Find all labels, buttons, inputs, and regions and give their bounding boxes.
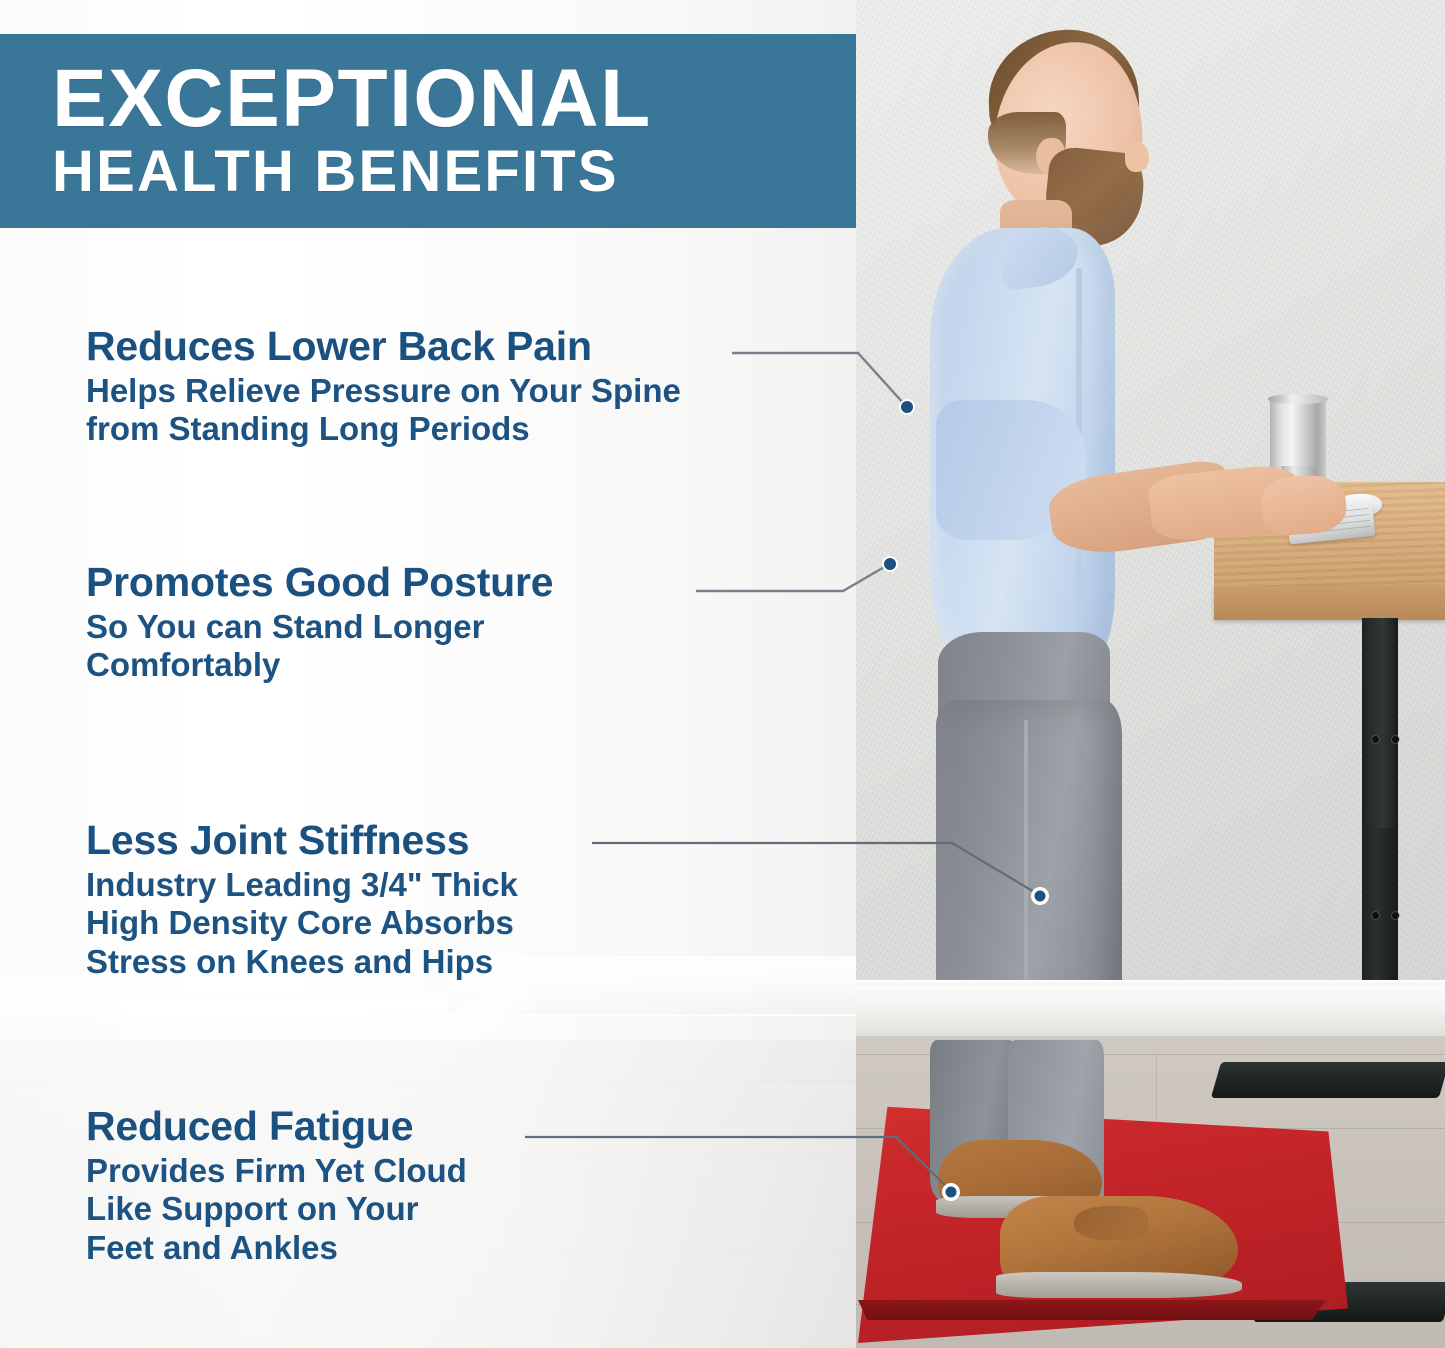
benefit-body-line: Feet and Ankles	[86, 1229, 467, 1267]
benefit-body-line: Helps Relieve Pressure on Your Spine	[86, 372, 681, 410]
benefit-block-reduced-fatigue: Reduced Fatigue Provides Firm Yet Cloud …	[86, 1106, 467, 1267]
benefit-body-line: Comfortably	[86, 646, 553, 684]
banner-title-line-1: EXCEPTIONAL	[52, 59, 856, 139]
benefit-title: Promotes Good Posture	[86, 562, 553, 603]
benefit-body-line: Provides Firm Yet Cloud	[86, 1152, 467, 1190]
man-nose	[1125, 142, 1149, 172]
infographic-root: EXCEPTIONAL HEALTH BENEFITS Reduces Lowe…	[0, 0, 1445, 1348]
benefit-body-line: High Density Core Absorbs	[86, 904, 518, 942]
left-panel-baseboard-side	[0, 975, 120, 1045]
man-shoe-front-sole	[996, 1272, 1242, 1298]
benefit-body-line: So You can Stand Longer	[86, 608, 553, 646]
desk-edge	[1214, 586, 1445, 620]
benefit-body-line: Like Support on Your	[86, 1190, 467, 1228]
mat-thickness-edge	[858, 1300, 1326, 1320]
tumbler-lip	[1268, 394, 1328, 404]
man-shoe-laces	[1074, 1206, 1148, 1240]
photo-baseboard	[856, 985, 1445, 1041]
benefit-block-less-joint-stiffness: Less Joint Stiffness Industry Leading 3/…	[86, 820, 518, 981]
desk-foot-back	[1211, 1062, 1445, 1098]
benefit-body: Industry Leading 3/4" Thick High Density…	[86, 866, 518, 981]
product-photo-panel	[856, 0, 1445, 1348]
header-banner: EXCEPTIONAL HEALTH BENEFITS	[0, 34, 856, 228]
benefit-title: Reduced Fatigue	[86, 1106, 467, 1147]
banner-title-line-2: HEALTH BENEFITS	[52, 141, 856, 202]
benefit-title: Reduces Lower Back Pain	[86, 326, 681, 367]
benefit-body: Helps Relieve Pressure on Your Spine fro…	[86, 372, 681, 449]
benefit-block-promotes-good-posture: Promotes Good Posture So You can Stand L…	[86, 562, 553, 685]
benefit-body-line: Industry Leading 3/4" Thick	[86, 866, 518, 904]
benefit-title: Less Joint Stiffness	[86, 820, 518, 861]
desk-leg-upper	[1366, 618, 1396, 828]
benefit-body: So You can Stand Longer Comfortably	[86, 608, 553, 685]
benefit-body-line: Stress on Knees and Hips	[86, 943, 518, 981]
benefit-body-line: from Standing Long Periods	[86, 410, 681, 448]
benefit-body: Provides Firm Yet Cloud Like Support on …	[86, 1152, 467, 1267]
benefit-block-reduces-lower-back-pain: Reduces Lower Back Pain Helps Relieve Pr…	[86, 326, 681, 449]
